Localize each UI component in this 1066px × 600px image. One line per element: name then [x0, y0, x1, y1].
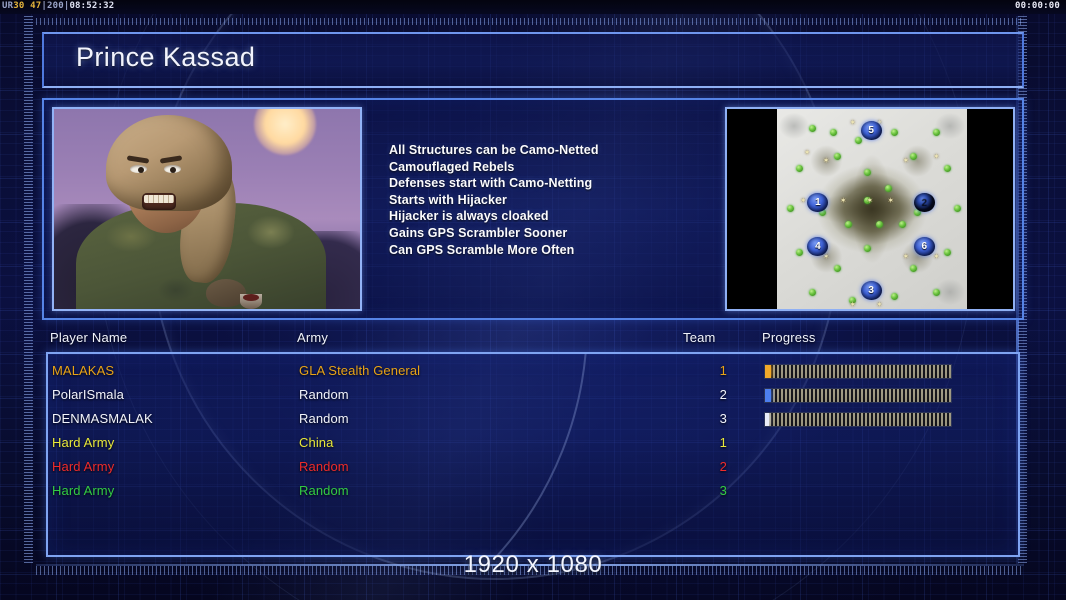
map-supply-dock-icon — [787, 205, 794, 212]
player-progress-bar — [764, 412, 952, 427]
map-start-position-marker: 3 — [861, 281, 882, 300]
player-army-cell: Random — [299, 387, 349, 402]
table-row: DENMASMALAKRandom3 — [48, 408, 1018, 432]
ruler-top — [36, 18, 1024, 25]
map-supply-dock-icon — [809, 289, 816, 296]
map-start-position-marker: 2 — [914, 193, 935, 212]
player-team-cell: 1 — [711, 363, 727, 378]
player-progress-bar — [764, 388, 952, 403]
player-name-cell: Hard Army — [52, 435, 114, 450]
general-info-band: All Structures can be Camo-NettedCamoufl… — [42, 98, 1024, 320]
map-start-position-marker: 6 — [914, 237, 935, 256]
portrait-cup-tea — [243, 294, 259, 301]
table-row: Hard ArmyChina1 — [48, 432, 1018, 456]
status-prefix: UR — [2, 1, 13, 11]
map-supply-dock-icon — [834, 153, 841, 160]
map-decor-top-left — [779, 113, 809, 139]
page-title: Prince Kassad — [76, 42, 255, 73]
map-supply-dock-icon — [864, 245, 871, 252]
map-supply-dock-icon — [830, 129, 837, 136]
map-start-position-marker: 1 — [807, 193, 828, 212]
player-army-cell: GLA Stealth General — [299, 363, 420, 378]
ability-line: Hijacker is always cloaked — [389, 208, 689, 225]
player-progress-bar — [764, 364, 952, 379]
player-army-cell: Random — [299, 411, 349, 426]
progress-bar-track — [765, 413, 951, 426]
column-header-team: Team — [683, 330, 716, 345]
general-ability-list: All Structures can be Camo-NettedCamoufl… — [389, 142, 689, 258]
status-bar-left: UR30 47|200|08:52:32 — [2, 1, 114, 12]
portrait-pupil-right — [170, 167, 176, 173]
map-supply-dock-icon — [944, 165, 951, 172]
map-tech-building-icon: ✶ — [933, 253, 940, 260]
table-row: Hard ArmyRandom2 — [48, 456, 1018, 480]
map-start-position-marker: 5 — [861, 121, 882, 140]
player-team-cell: 3 — [711, 411, 727, 426]
map-supply-dock-icon — [899, 221, 906, 228]
map-tech-building-icon: ✶ — [849, 119, 856, 126]
player-army-cell: Random — [299, 483, 349, 498]
ability-line: Gains GPS Scrambler Sooner — [389, 225, 689, 242]
map-supply-dock-icon — [809, 125, 816, 132]
ability-line: Camouflaged Rebels — [389, 159, 689, 176]
elapsed-timer: 00:00:00 — [1015, 1, 1060, 12]
ability-line: All Structures can be Camo-Netted — [389, 142, 689, 159]
portrait-pupil-left — [138, 167, 144, 173]
map-supply-dock-icon — [885, 185, 892, 192]
map-decor-top-right — [935, 113, 965, 139]
column-header-progress: Progress — [762, 330, 816, 345]
table-row: PolarISmalaRandom2 — [48, 384, 1018, 408]
player-name-cell: MALAKAS — [52, 363, 114, 378]
map-tech-building-icon: ✶ — [887, 197, 894, 204]
player-army-cell: Random — [299, 459, 349, 474]
map-preview-terrain: ✶✶✶✶✶✶✶✶✶✶✶✶✶✶✶✶512463 — [777, 109, 967, 309]
map-tech-building-icon: ✶ — [876, 301, 883, 308]
ability-line: Defenses start with Camo-Netting — [389, 175, 689, 192]
progress-bar-fill — [765, 365, 771, 378]
map-tech-building-icon: ✶ — [800, 197, 807, 204]
portrait-teeth — [144, 195, 174, 203]
player-list-header: Player Name Army Team Progress — [50, 330, 1016, 352]
progress-bar-track — [765, 389, 951, 402]
map-supply-dock-icon — [910, 265, 917, 272]
map-supply-dock-icon — [891, 293, 898, 300]
status-bar: UR30 47|200|08:52:32 00:00:00 — [0, 0, 1066, 14]
map-supply-dock-icon — [796, 165, 803, 172]
map-tech-building-icon: ✶ — [902, 253, 909, 260]
map-supply-dock-icon — [796, 249, 803, 256]
header-band: Prince Kassad — [42, 32, 1024, 88]
progress-bar-fill — [765, 413, 769, 426]
status-code: 30 47 — [13, 1, 41, 11]
status-mid: |200| — [41, 1, 69, 11]
map-supply-dock-icon — [910, 153, 917, 160]
progress-bar-track — [765, 365, 951, 378]
map-supply-dock-icon — [855, 137, 862, 144]
map-supply-dock-icon — [834, 265, 841, 272]
player-team-cell: 2 — [711, 459, 727, 474]
map-supply-dock-icon — [933, 129, 940, 136]
player-name-cell: DENMASMALAK — [52, 411, 153, 426]
map-supply-dock-icon — [845, 221, 852, 228]
player-army-cell: China — [299, 435, 333, 450]
loading-screen-frame: Prince Kassad All Structures ca — [42, 32, 1024, 560]
map-supply-dock-icon — [933, 289, 940, 296]
map-tech-building-icon: ✶ — [840, 197, 847, 204]
map-tech-building-icon: ✶ — [823, 157, 830, 164]
column-header-army: Army — [297, 330, 328, 345]
column-header-player-name: Player Name — [50, 330, 127, 345]
player-list-section: Player Name Army Team Progress MALAKASGL… — [42, 330, 1024, 560]
map-tech-building-icon: ✶ — [866, 197, 873, 204]
status-clock: 08:52:32 — [69, 1, 114, 11]
general-portrait — [52, 107, 362, 311]
map-tech-building-icon: ✶ — [849, 301, 856, 308]
resolution-label: 1920 x 1080 — [0, 551, 1066, 579]
progress-bar-fill — [765, 389, 771, 402]
map-supply-dock-icon — [876, 221, 883, 228]
map-supply-dock-icon — [891, 129, 898, 136]
player-name-cell: PolarISmala — [52, 387, 124, 402]
map-preview: ✶✶✶✶✶✶✶✶✶✶✶✶✶✶✶✶512463 — [725, 107, 1015, 311]
map-supply-dock-icon — [864, 169, 871, 176]
map-supply-dock-icon — [944, 249, 951, 256]
table-row: MALAKASGLA Stealth General1 — [48, 360, 1018, 384]
ruler-left — [24, 16, 33, 564]
map-supply-dock-icon — [954, 205, 961, 212]
player-name-cell: Hard Army — [52, 459, 114, 474]
player-name-cell: Hard Army — [52, 483, 114, 498]
map-tech-building-icon: ✶ — [804, 149, 811, 156]
map-tech-building-icon: ✶ — [902, 157, 909, 164]
table-row: Hard ArmyRandom3 — [48, 480, 1018, 504]
ability-line: Can GPS Scramble More Often — [389, 242, 689, 259]
ability-line: Starts with Hijacker — [389, 192, 689, 209]
player-team-cell: 3 — [711, 483, 727, 498]
player-team-cell: 2 — [711, 387, 727, 402]
player-team-cell: 1 — [711, 435, 727, 450]
player-list-body: MALAKASGLA Stealth General1PolarISmalaRa… — [46, 352, 1020, 557]
map-tech-building-icon: ✶ — [933, 153, 940, 160]
